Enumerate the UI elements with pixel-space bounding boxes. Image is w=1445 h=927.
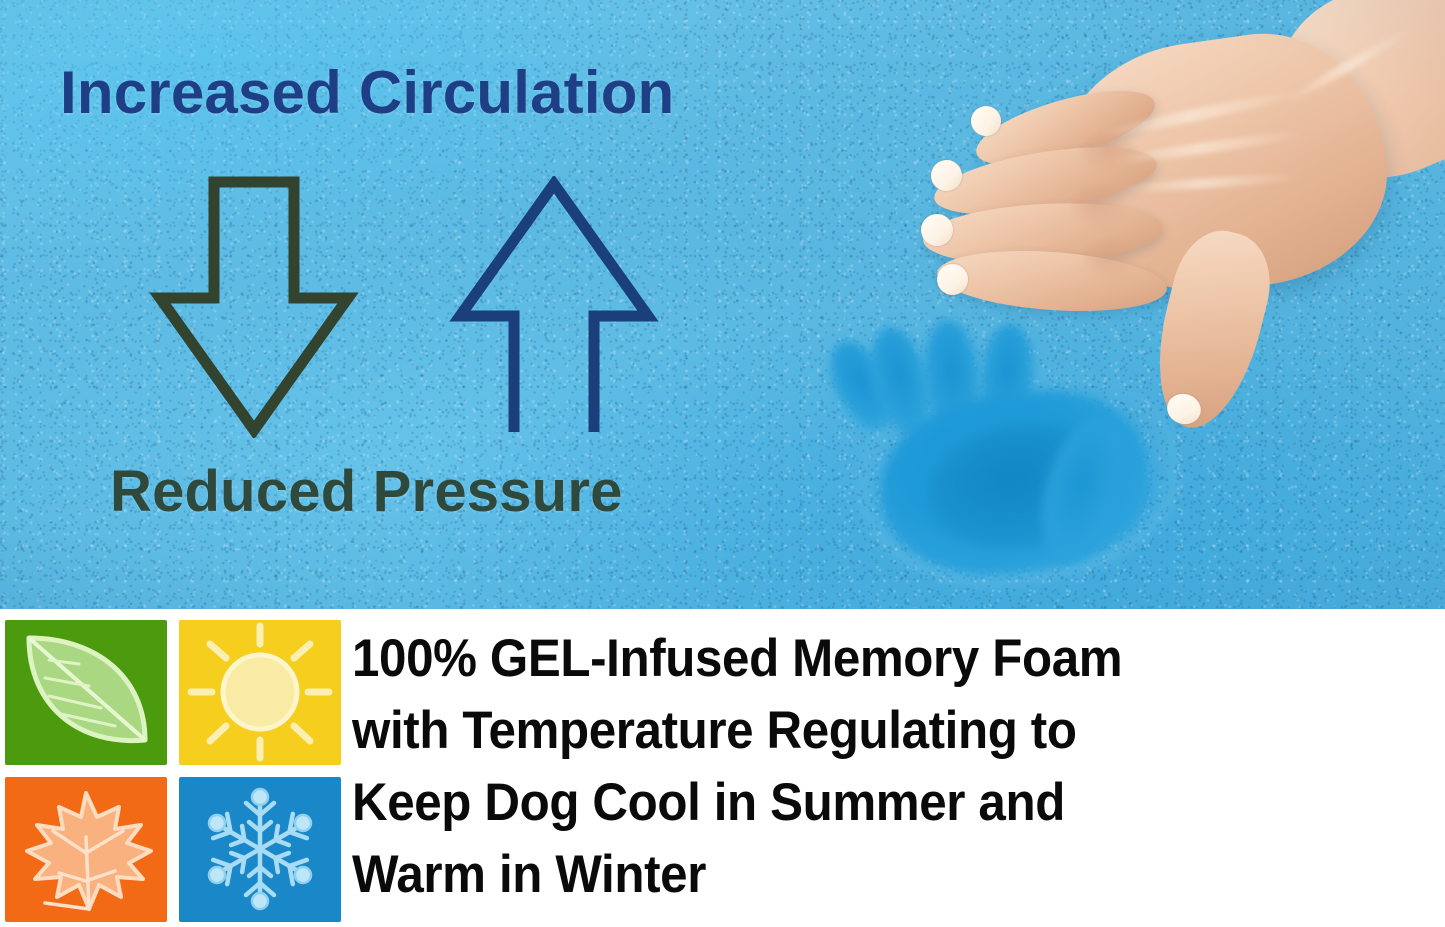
season-icon-grid [5,620,341,922]
snowflake-icon [179,777,341,922]
down-arrow-icon [148,176,360,438]
marketing-copy-text: 100% GEL-Infused Memory Foam with Temper… [352,623,1442,911]
copy-line-2: with Temperature Regulating to [352,695,1366,767]
maple-leaf-icon [5,777,167,922]
copy-line-3: Keep Dog Cool in Summer and [352,767,1366,839]
copy-line-1: 100% GEL-Infused Memory Foam [352,623,1366,695]
season-tile-summer [179,620,341,765]
sun-icon [179,620,341,765]
season-tile-spring [5,620,167,765]
season-tile-autumn [5,777,167,922]
reduced-pressure-label: Reduced Pressure [110,458,623,525]
season-tile-winter [179,777,341,922]
memory-foam-photo-panel: Increased Circulation Reduced Pressure [0,0,1445,609]
increased-circulation-label: Increased Circulation [60,58,674,127]
leaf-icon [5,620,167,765]
product-feature-graphic: Increased Circulation Reduced Pressure [0,0,1445,927]
feature-description-band: 100% GEL-Infused Memory Foam with Temper… [0,609,1445,927]
up-arrow-icon [448,176,660,438]
copy-line-4: Warm in Winter [352,839,1366,911]
